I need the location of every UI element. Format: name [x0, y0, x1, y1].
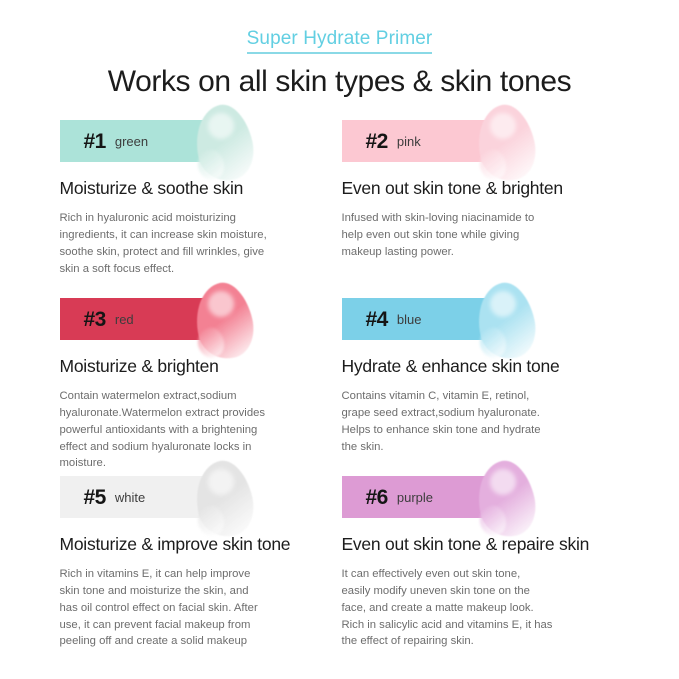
shade-band-wrap-6: #6 purple	[342, 476, 620, 522]
shade-title-3: Moisturize & brighten	[60, 356, 342, 377]
shade-title-2: Even out skin tone & brighten	[342, 178, 620, 199]
shade-band-1: #1 green	[60, 120, 210, 162]
shade-number-5: #5	[84, 487, 106, 508]
shade-band-3: #3 red	[60, 298, 210, 340]
shade-color-name-5: white	[115, 491, 145, 504]
infographic-page: Super Hydrate Primer Works on all skin t…	[0, 0, 679, 679]
shade-color-name-4: blue	[397, 313, 422, 326]
shade-grid: #1 green Moisturize & soothe skin Rich i…	[60, 120, 620, 654]
shade-color-name-3: red	[115, 313, 134, 326]
shade-number-6: #6	[366, 487, 388, 508]
shade-band-wrap-5: #5 white	[60, 476, 342, 522]
product-name: Super Hydrate Primer	[247, 28, 433, 54]
shade-number-2: #2	[366, 131, 388, 152]
shade-band-wrap-3: #3 red	[60, 298, 342, 344]
shade-card-3: #3 red Moisturize & brighten Contain wat…	[60, 298, 342, 476]
shade-title-5: Moisturize & improve skin tone	[60, 534, 342, 555]
shade-band-4: #4 blue	[342, 298, 492, 340]
page-title: Works on all skin types & skin tones	[0, 65, 679, 99]
shade-number-4: #4	[366, 309, 388, 330]
shade-color-name-1: green	[115, 135, 148, 148]
shade-band-2: #2 pink	[342, 120, 492, 162]
shade-body-1: Rich in hyaluronic acid moisturizing ing…	[60, 210, 308, 277]
shade-color-name-6: purple	[397, 491, 433, 504]
shade-card-4: #4 blue Hydrate & enhance skin tone Cont…	[342, 298, 620, 476]
shade-body-6: It can effectively even out skin tone, e…	[342, 566, 590, 650]
shade-title-4: Hydrate & enhance skin tone	[342, 356, 620, 377]
shade-body-3: Contain watermelon extract,sodium hyalur…	[60, 388, 308, 472]
shade-number-3: #3	[84, 309, 106, 330]
shade-color-name-2: pink	[397, 135, 421, 148]
shade-title-1: Moisturize & soothe skin	[60, 178, 342, 199]
shade-number-1: #1	[84, 131, 106, 152]
page-header: Super Hydrate Primer Works on all skin t…	[0, 0, 679, 98]
shade-band-wrap-4: #4 blue	[342, 298, 620, 344]
shade-band-wrap-2: #2 pink	[342, 120, 620, 166]
shade-card-1: #1 green Moisturize & soothe skin Rich i…	[60, 120, 342, 298]
shade-band-5: #5 white	[60, 476, 210, 518]
shade-body-5: Rich in vitamins E, it can help improve …	[60, 566, 308, 650]
shade-band-6: #6 purple	[342, 476, 492, 518]
shade-card-5: #5 white Moisturize & improve skin tone …	[60, 476, 342, 654]
shade-card-2: #2 pink Even out skin tone & brighten In…	[342, 120, 620, 298]
shade-body-4: Contains vitamin C, vitamin E, retinol, …	[342, 388, 590, 455]
shade-band-wrap-1: #1 green	[60, 120, 342, 166]
shade-card-6: #6 purple Even out skin tone & repaire s…	[342, 476, 620, 654]
shade-body-2: Infused with skin-loving niacinamide to …	[342, 210, 590, 260]
shade-title-6: Even out skin tone & repaire skin	[342, 534, 620, 555]
